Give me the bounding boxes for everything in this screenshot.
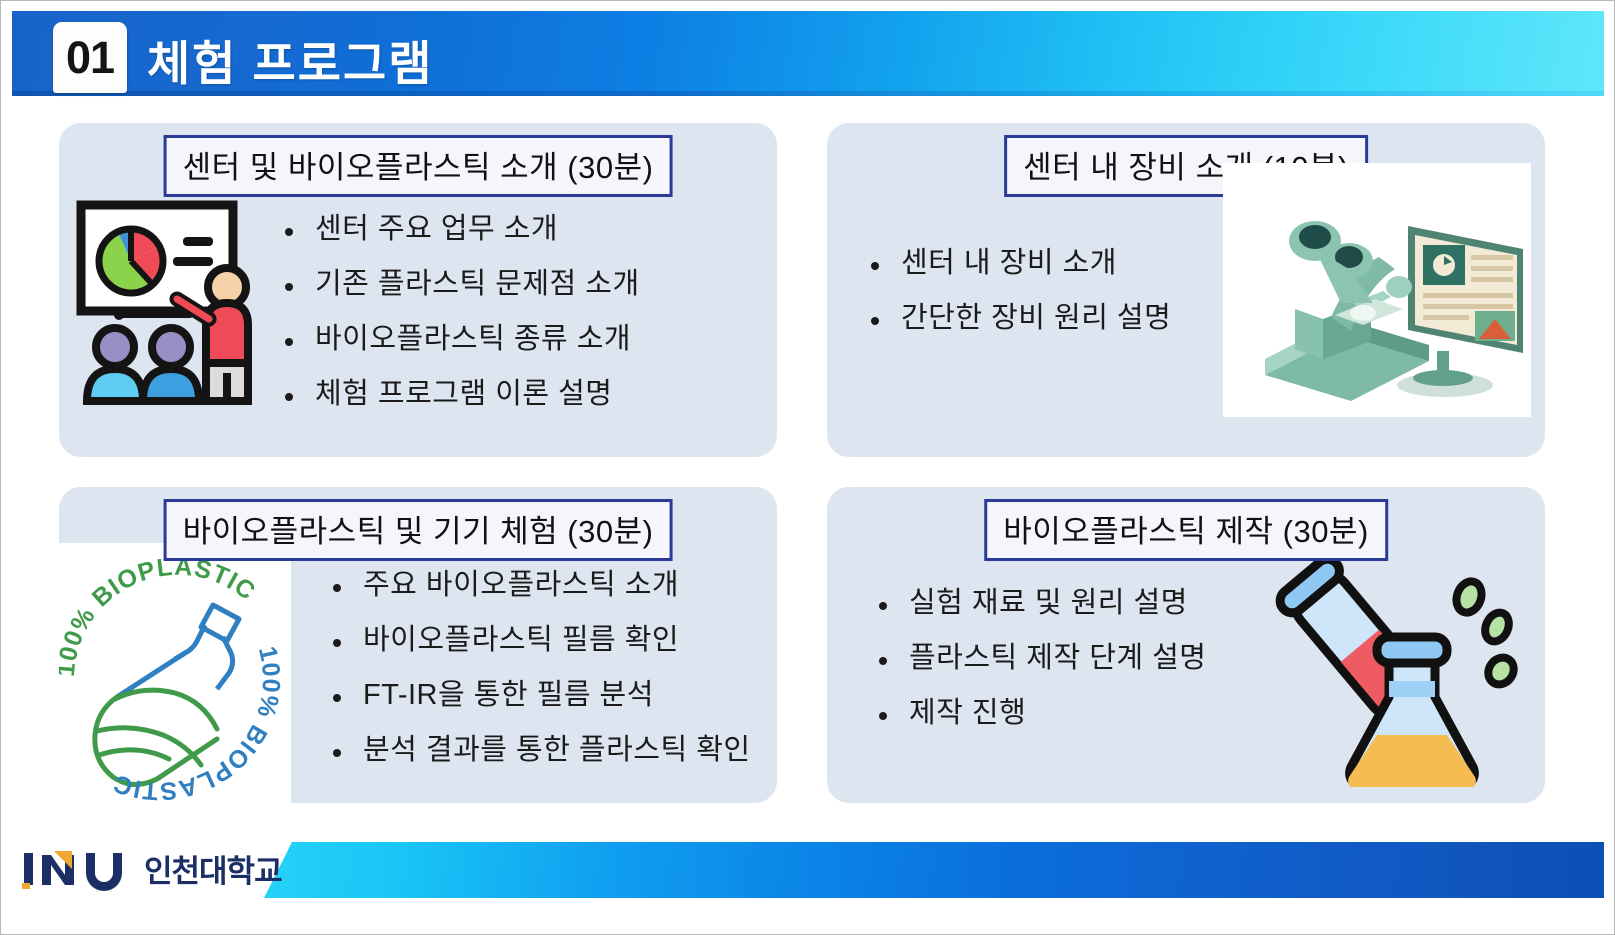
card-bullet-list: 센터 주요 업무 소개 기존 플라스틱 문제점 소개 바이오플라스틱 종류 소개… <box>281 215 640 435</box>
list-item: 실험 재료 및 원리 설명 <box>875 589 1206 618</box>
list-item: 기존 플라스틱 문제점 소개 <box>281 270 640 299</box>
list-item: 분석 결과를 통한 플라스틱 확인 <box>329 736 751 765</box>
card-bullet-list: 실험 재료 및 원리 설명 플라스틱 제작 단계 설명 제작 진행 <box>875 589 1206 754</box>
card-equipment-intro: 센터 내 장비 소개 (10분) <box>827 123 1545 457</box>
presentation-icon <box>73 195 283 410</box>
bioplastic-logo-image: 100% BIOPLASTIC 100% BIOPLASTIC <box>59 543 291 803</box>
test-tube-flask-icon <box>1273 541 1523 787</box>
list-item: 바이오플라스틱 종류 소개 <box>281 325 640 354</box>
card-title: 바이오플라스틱 및 기기 체험 (30분) <box>164 499 673 561</box>
list-item: 체험 프로그램 이론 설명 <box>281 380 640 409</box>
list-item: 간단한 장비 원리 설명 <box>867 304 1171 333</box>
card-center-intro: 센터 및 바이오플라스틱 소개 (30분) <box>59 123 777 457</box>
card-bioplastic-production: 바이오플라스틱 제작 (30분) <box>827 487 1545 803</box>
list-item: FT-IR을 통한 필름 분석 <box>329 681 751 710</box>
section-number-badge: 01 <box>53 22 127 93</box>
university-logo: 인천대학교 <box>20 846 282 891</box>
card-bullet-list: 센터 내 장비 소개 간단한 장비 원리 설명 <box>867 249 1171 359</box>
card-title: 바이오플라스틱 제작 (30분) <box>984 499 1388 561</box>
card-bioplastic-experience: 바이오플라스틱 및 기기 체험 (30분) <box>59 487 777 803</box>
microscope-monitor-image <box>1223 163 1531 417</box>
card-bullet-list: 주요 바이오플라스틱 소개 바이오플라스틱 필름 확인 FT-IR을 통한 필름… <box>329 571 751 791</box>
list-item: 플라스틱 제작 단계 설명 <box>875 644 1206 673</box>
footer-gradient-bar <box>264 842 1604 898</box>
list-item: 센터 주요 업무 소개 <box>281 215 640 244</box>
inu-logo-icon <box>20 847 132 891</box>
card-title: 센터 및 바이오플라스틱 소개 (30분) <box>164 135 673 197</box>
list-item: 센터 내 장비 소개 <box>867 249 1171 278</box>
university-name: 인천대학교 <box>144 846 282 891</box>
page-title: 체험 프로그램 <box>147 25 434 94</box>
list-item: 주요 바이오플라스틱 소개 <box>329 571 751 600</box>
list-item: 바이오플라스틱 필름 확인 <box>329 626 751 655</box>
list-item: 제작 진행 <box>875 699 1206 728</box>
slide: 01 체험 프로그램 센터 및 바이오플라스틱 소개 (30분) <box>0 0 1615 935</box>
slide-footer: 인천대학교 <box>12 842 1604 898</box>
program-card-grid: 센터 및 바이오플라스틱 소개 (30분) <box>59 123 1559 803</box>
